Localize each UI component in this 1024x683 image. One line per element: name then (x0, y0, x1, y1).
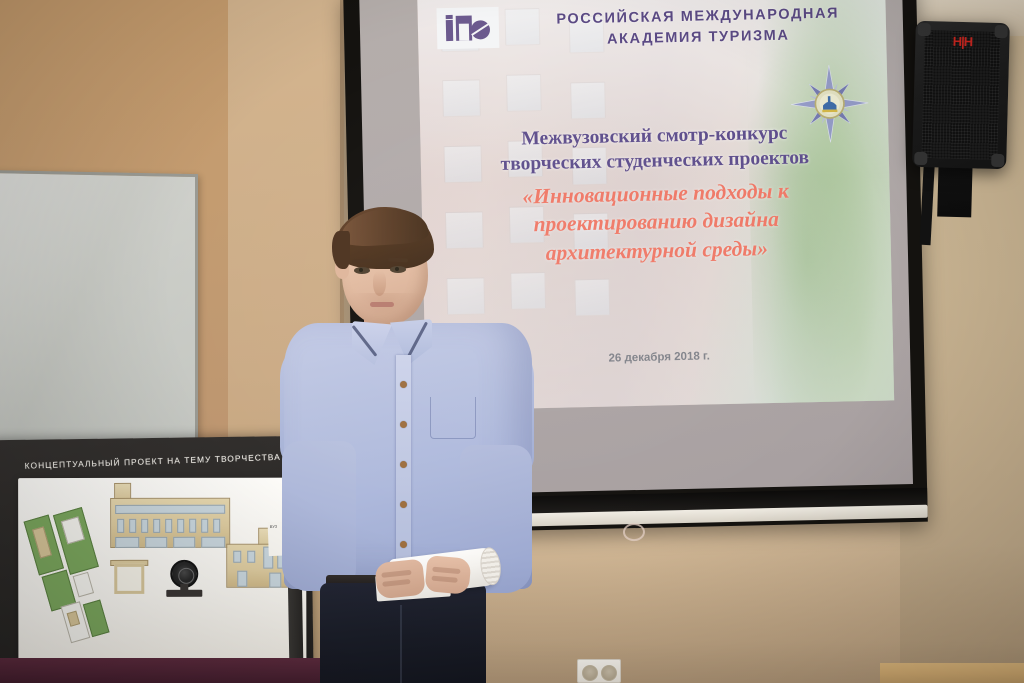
academy-name: РОССИЙСКАЯ МЕЖДУНАРОДНАЯ АКАДЕМИЯ ТУРИЗМ… (548, 3, 849, 52)
hair-side (332, 231, 350, 269)
room-scene: РОССИЙСКАЯ МЕЖДУНАРОДНАЯ АКАДЕМИЯ ТУРИЗМ… (0, 0, 1024, 683)
shirt-pocket (430, 397, 476, 439)
shirt-button (400, 501, 407, 508)
wall-speaker: H|H (912, 21, 1010, 169)
trouser-seam (400, 605, 402, 683)
speaker-brand-logo: H|H (915, 33, 1009, 50)
mouth (370, 302, 394, 307)
socket-left (582, 665, 598, 681)
poster-heading: КОНЦЕПТУАЛЬНЫЙ ПРОЕКТ НА ТЕМУ ТВОРЧЕСТВА… (25, 451, 305, 471)
wooden-table (880, 663, 1024, 683)
hand-left (374, 559, 426, 600)
speaker-corner (991, 154, 1004, 167)
shirt-button (400, 421, 407, 428)
shirt-placket (396, 355, 411, 587)
chair-row (0, 658, 320, 683)
presenter-person (280, 205, 540, 683)
whiteboard (0, 170, 198, 464)
long-building-elevation (110, 498, 230, 548)
shirt-button (400, 461, 407, 468)
academy-logo (437, 7, 500, 49)
whiteboard-sheen (0, 173, 195, 461)
nose (373, 271, 386, 296)
power-outlet[interactable] (577, 659, 621, 683)
eye-left (354, 267, 370, 274)
disc-base (166, 590, 202, 597)
socket-right (601, 665, 617, 681)
shirt-button (400, 541, 407, 548)
site-plan-drawing (24, 503, 123, 646)
rmat-logo-icon (446, 15, 491, 42)
contest-title: Межвузовский смотр-конкурс творческих ст… (442, 119, 867, 179)
pavilion-elevation (114, 564, 144, 594)
poster-board: КОНЦЕПТУАЛЬНЫЙ ПРОЕКТ НА ТЕМУ ТВОРЧЕСТВА… (0, 436, 314, 683)
shirt-button (400, 381, 407, 388)
speaker-corner (914, 152, 927, 165)
eye-right (390, 266, 406, 273)
poster-sheet: ВУЗ (18, 478, 306, 683)
hand-right (425, 555, 472, 595)
arm-left (282, 441, 356, 591)
